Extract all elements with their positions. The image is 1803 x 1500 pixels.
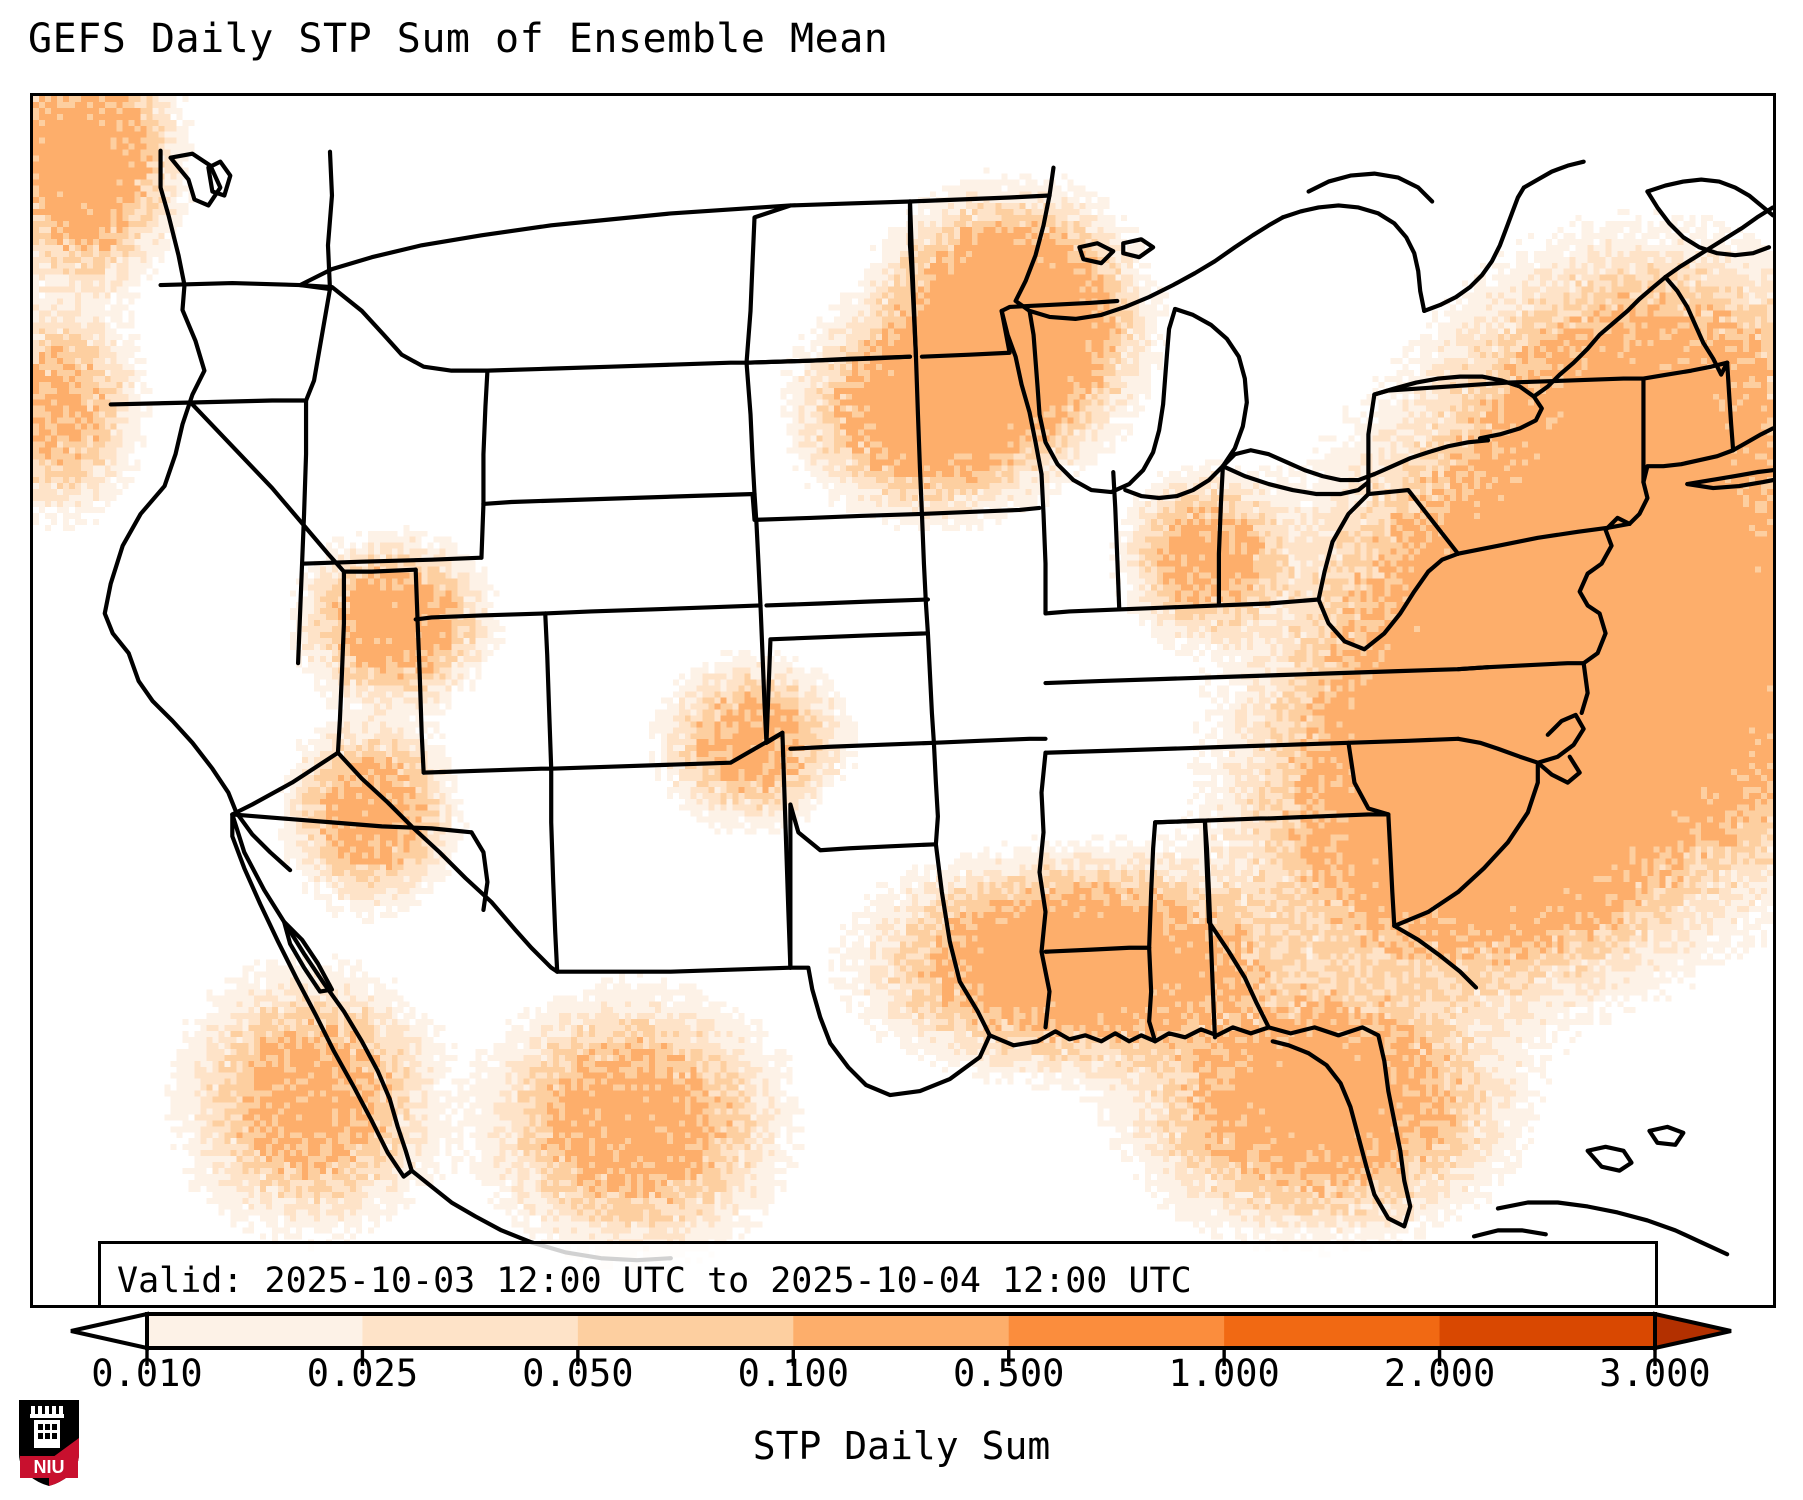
colorbar-band	[362, 1314, 578, 1348]
colorbar-tick-label: 0.025	[307, 1352, 418, 1395]
colorbar-band	[147, 1314, 363, 1348]
colorbar-tick-label: 3.000	[1599, 1352, 1710, 1395]
coastline-and-borders	[105, 151, 1773, 1260]
colorbar-band	[793, 1314, 1009, 1348]
niu-banner-text: NIU	[34, 1457, 65, 1477]
colorbar-tick-label: 0.010	[91, 1352, 202, 1395]
colorbar-tick-label: 0.100	[738, 1352, 849, 1395]
colorbar-band	[1440, 1314, 1656, 1348]
niu-logo: NIU	[16, 1398, 82, 1488]
colorbar-band	[578, 1314, 794, 1348]
colorbar-over-arrow	[1655, 1314, 1731, 1348]
map-outlines	[33, 96, 1773, 1305]
valid-time-line: Valid: 2025-10-03 12:00 UTC to 2025-10-0…	[117, 1252, 1639, 1308]
colorbar-tick-label: 1.000	[1168, 1352, 1279, 1395]
colorbar-band	[1224, 1314, 1440, 1348]
colorbar: 0.0100.0250.0500.1000.5001.0002.0003.000	[0, 1308, 1803, 1388]
colorbar-tick-labels: 0.0100.0250.0500.1000.5001.0002.0003.000	[0, 1352, 1803, 1396]
valid-run-info-box: Valid: 2025-10-03 12:00 UTC to 2025-10-0…	[98, 1241, 1658, 1308]
colorbar-band	[1009, 1314, 1225, 1348]
colorbar-bands	[71, 1314, 1731, 1348]
colorbar-tick-label: 0.050	[522, 1352, 633, 1395]
colorbar-under-arrow	[71, 1314, 147, 1348]
map-frame: Valid: 2025-10-03 12:00 UTC to 2025-10-0…	[30, 93, 1776, 1308]
colorbar-tick-label: 0.500	[953, 1352, 1064, 1395]
colorbar-tick-label: 2.000	[1384, 1352, 1495, 1395]
colorbar-axis-label: STP Daily Sum	[0, 1424, 1803, 1468]
page-title: GEFS Daily STP Sum of Ensemble Mean	[28, 16, 888, 62]
